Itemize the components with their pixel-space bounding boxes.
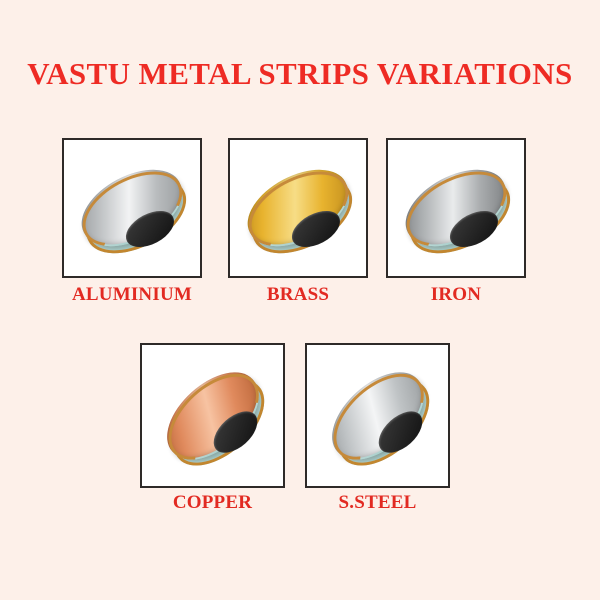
tape-roll-aluminium: Custom Name &Address <box>132 208 192 268</box>
product-image-frame-iron: Custom Name &Address <box>386 138 526 278</box>
tape-roll-copper: Custom Name &Address <box>213 416 273 476</box>
product-image-frame-brass: Custom Name &Address <box>228 138 368 278</box>
product-label-iron: IRON <box>431 284 481 306</box>
product-label-brass: BRASS <box>267 284 329 306</box>
product-label-aluminium: ALUMINIUM <box>72 284 192 306</box>
page-title: VASTU METAL STRIPS VARIATIONS <box>0 56 600 92</box>
product-image-frame-s-steel: Custom Name &Address <box>305 343 450 488</box>
tape-roll-iron: Custom Name &Address <box>456 208 516 268</box>
product-label-copper: COPPER <box>173 492 252 514</box>
product-image-frame-copper: Custom Name &Address <box>140 343 285 488</box>
product-label-s-steel: S.STEEL <box>339 492 417 514</box>
poster-canvas: VASTU METAL STRIPS VARIATIONS Custom Nam… <box>0 0 600 600</box>
tape-roll-brass: Custom Name &Address <box>298 208 358 268</box>
tape-roll-s-steel: Custom Name &Address <box>378 416 438 476</box>
product-image-frame-aluminium: Custom Name &Address <box>62 138 202 278</box>
